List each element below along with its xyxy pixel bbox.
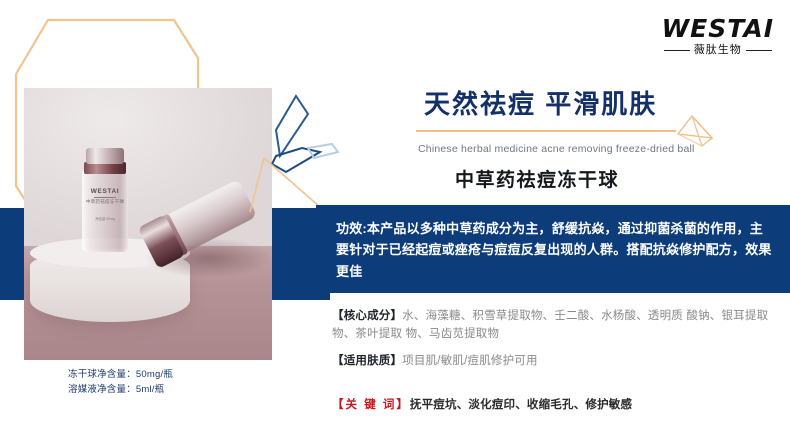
spec-line-2: 溶媒液净含量：5ml/瓶 — [68, 383, 173, 398]
skintype-row: 【适用肤质】项目肌/敏肌/痘肌修护可用 — [332, 352, 782, 370]
product-specs: 冻干球净含量：50mg/瓶 溶媒液净含量：5ml/瓶 — [68, 368, 173, 397]
standing-vial: WESTAI 中草药祛痘冻干球 净含量 50mg — [82, 148, 128, 252]
logo-rule-right — [746, 50, 772, 51]
efficacy-text: 功效:本产品以多种中草药成分为主，舒缓抗焱，通过抑菌杀菌的作用，主要针对于已经起… — [336, 218, 772, 282]
product-poster: WESTAI 中草药祛痘冻干球 净含量 50mg WESTAI 薇肽生物 天然祛… — [0, 0, 790, 444]
subtitle-english: Chinese herbal medicine acne removing fr… — [418, 143, 695, 155]
efficacy-panel: 功效:本产品以多种中草药成分为主，舒缓抗焱，通过抑菌杀菌的作用，主要针对于已经起… — [316, 205, 790, 293]
logo-subtitle: 薇肽生物 — [662, 45, 774, 56]
logo-chinese-name: 薇肽生物 — [694, 45, 742, 56]
page-title: 天然祛痘 平滑肌肤 — [424, 84, 657, 121]
subtitle-chinese: 中草药祛痘冻干球 — [455, 165, 619, 192]
logo-wordmark: WESTAI — [662, 16, 774, 41]
vial-label-rule — [94, 197, 116, 198]
keywords-label: 【关 键 词】 — [332, 399, 410, 411]
vial-label: WESTAI 中草药祛痘冻干球 净含量 50mg — [85, 188, 125, 221]
skintype-label: 【适用肤质】 — [332, 355, 402, 367]
spec-line-1: 冻干球净含量：50mg/瓶 — [68, 368, 173, 383]
skintype-value: 项目肌/敏肌/痘肌修护可用 — [402, 355, 538, 367]
vial-label-brand: WESTAI — [85, 188, 125, 196]
vial-label-net: 净含量 50mg — [85, 217, 125, 221]
title-divider — [416, 130, 676, 132]
ingredients-label: 【核心成分】 — [332, 310, 402, 322]
keywords-value: 抚平痘坑、淡化痘印、收缩毛孔、修护敏感 — [410, 399, 632, 411]
vial-cap — [86, 148, 124, 164]
product-photo: WESTAI 中草药祛痘冻干球 净含量 50mg — [24, 88, 272, 360]
vial-label-product: 中草药祛痘冻干球 — [85, 199, 125, 205]
ingredients-row: 【核心成分】水、海藻糖、积雪草提取物、壬二酸、水杨酸、透明质 酸钠、银耳提取物、… — [332, 307, 782, 344]
brand-logo: WESTAI 薇肽生物 — [662, 16, 774, 56]
keywords-row: 【关 键 词】抚平痘坑、淡化痘印、收缩毛孔、修护敏感 — [332, 396, 782, 414]
logo-rule-left — [664, 50, 690, 51]
